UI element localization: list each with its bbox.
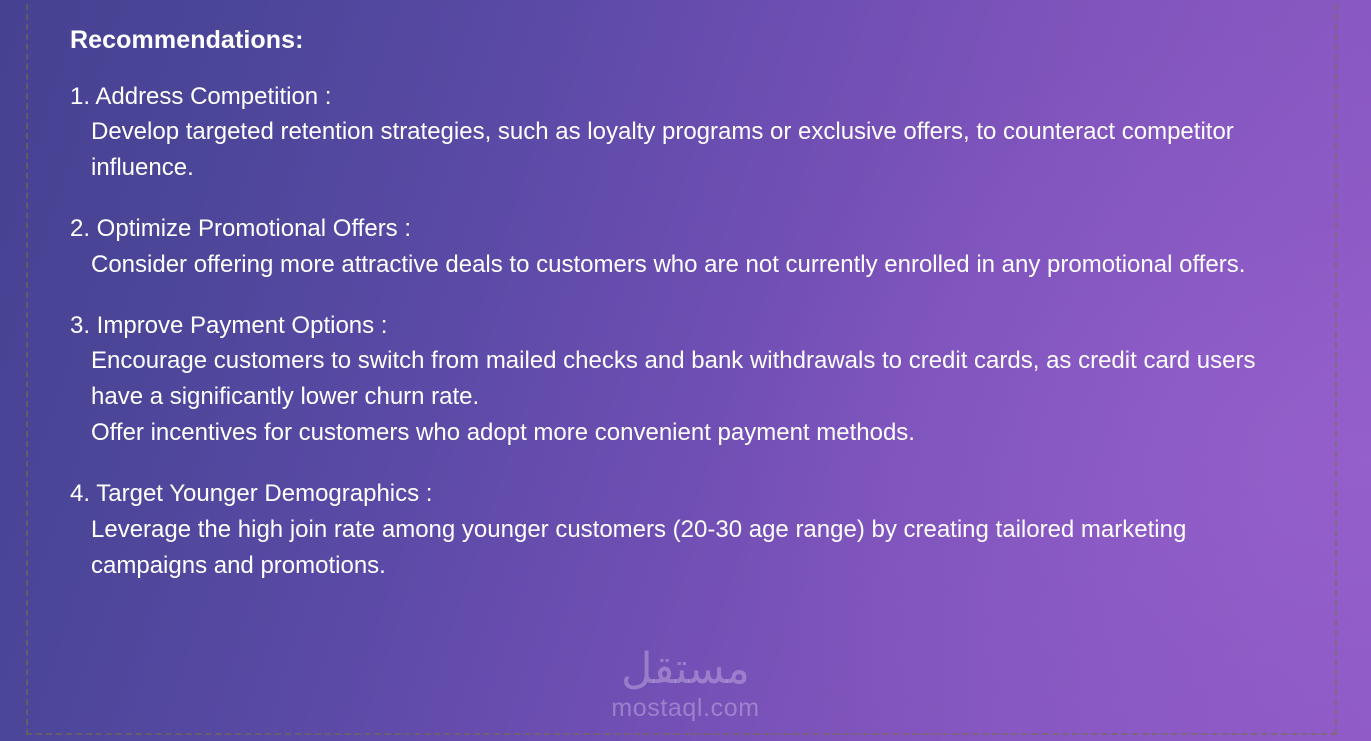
- recommendation-body: Consider offering more attractive deals …: [70, 247, 1295, 283]
- recommendation-heading: 1. Address Competition :: [70, 79, 1295, 115]
- page-title: Recommendations:: [70, 24, 1295, 57]
- recommendation-body: Develop targeted retention strategies, s…: [70, 114, 1295, 186]
- recommendation-item-2: 2. Optimize Promotional Offers : Conside…: [70, 211, 1295, 283]
- slide-content: Recommendations: 1. Address Competition …: [70, 24, 1295, 584]
- recommendation-heading: 2. Optimize Promotional Offers :: [70, 211, 1295, 247]
- recommendation-heading: 3. Improve Payment Options :: [70, 308, 1295, 344]
- recommendation-item-1: 1. Address Competition : Develop targete…: [70, 79, 1295, 187]
- watermark-arabic-logo: مستقل: [0, 648, 1371, 691]
- slide-canvas: Recommendations: 1. Address Competition …: [0, 0, 1371, 741]
- recommendation-item-4: 4. Target Younger Demographics : Leverag…: [70, 476, 1295, 584]
- recommendation-heading: 4. Target Younger Demographics :: [70, 476, 1295, 512]
- watermark-domain: mostaql.com: [0, 693, 1371, 723]
- recommendation-body: Leverage the high join rate among younge…: [70, 512, 1295, 584]
- recommendation-item-3: 3. Improve Payment Options : Encourage c…: [70, 308, 1295, 452]
- watermark: مستقل mostaql.com: [0, 648, 1371, 723]
- recommendation-body: Offer incentives for customers who adopt…: [70, 415, 1295, 451]
- recommendation-body: Encourage customers to switch from maile…: [70, 343, 1295, 415]
